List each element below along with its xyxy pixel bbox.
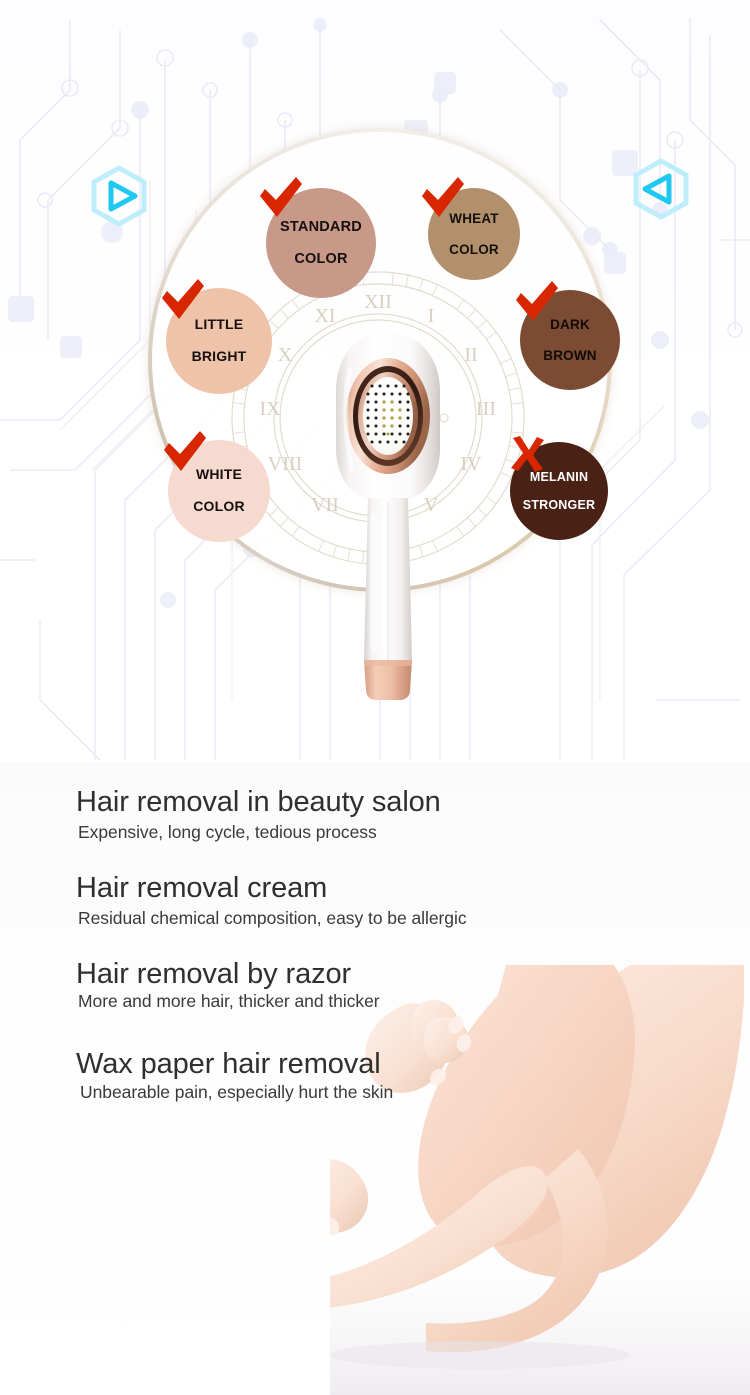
comparison-item-3-subtitle: More and more hair, thicker and thicker xyxy=(78,993,380,1011)
skin-tone-white-line1: WHITE xyxy=(187,467,251,483)
play-triangle-left-icon xyxy=(630,158,692,220)
comparison-item-4-title: Wax paper hair removal xyxy=(76,1050,393,1079)
svg-text:X: X xyxy=(278,344,293,366)
skin-tone-standard[interactable]: STANDARDCOLOR xyxy=(266,188,376,298)
svg-text:II: II xyxy=(464,344,477,366)
svg-text:XII: XII xyxy=(364,291,392,313)
skin-tone-standard-line2: COLOR xyxy=(274,251,368,267)
comparison-item-1: Hair removal in beauty salon Expensive, … xyxy=(76,788,441,842)
skin-tone-dark-brown-line1: DARK xyxy=(537,317,603,332)
comparison-item-2-subtitle: Residual chemical composition, easy to b… xyxy=(78,910,467,928)
comparison-item-3-title: Hair removal by razor xyxy=(76,960,380,989)
svg-text:IX: IX xyxy=(259,398,281,420)
comparison-item-4: Wax paper hair removal Unbearable pain, … xyxy=(76,1050,393,1102)
comparison-item-1-subtitle: Expensive, long cycle, tedious process xyxy=(78,824,441,842)
woman-crossed-legs-photo xyxy=(330,965,750,1395)
skin-tone-melanin-stronger-line1: MELANIN xyxy=(517,470,601,484)
svg-text:I: I xyxy=(428,305,435,327)
skin-tone-dark-brown-line2: BROWN xyxy=(537,348,603,363)
skin-tone-white[interactable]: WHITECOLOR xyxy=(168,440,270,542)
skin-tone-little-bright-line2: BRIGHT xyxy=(186,349,253,365)
skin-tone-wheat-line1: WHEAT xyxy=(443,211,505,226)
skin-tone-wheat-line2: COLOR xyxy=(443,242,505,257)
comparison-item-2-title: Hair removal cream xyxy=(76,874,467,903)
skin-tone-wheat[interactable]: WHEATCOLOR xyxy=(428,188,520,280)
skin-tone-standard-line1: STANDARD xyxy=(274,219,368,235)
skin-tone-melanin-stronger-line2: STRONGER xyxy=(517,498,601,512)
skin-tone-white-line2: COLOR xyxy=(187,499,251,515)
ipl-hair-removal-handset xyxy=(330,330,445,705)
comparison-item-2: Hair removal cream Residual chemical com… xyxy=(76,874,467,928)
svg-text:III: III xyxy=(476,398,496,420)
svg-text:IV: IV xyxy=(460,453,482,475)
comparison-item-1-title: Hair removal in beauty salon xyxy=(76,788,441,817)
skin-tone-dark-brown[interactable]: DARKBROWN xyxy=(520,290,620,390)
skin-tone-little-bright-line1: LITTLE xyxy=(186,317,253,333)
skin-tone-little-bright[interactable]: LITTLEBRIGHT xyxy=(166,288,272,394)
svg-text:VIII: VIII xyxy=(268,453,302,475)
comparison-item-3: Hair removal by razor More and more hair… xyxy=(76,960,380,1011)
svg-text:XI: XI xyxy=(314,305,335,327)
skin-tone-melanin-stronger[interactable]: MELANINSTRONGER xyxy=(510,442,608,540)
comparison-item-4-subtitle: Unbearable pain, especially hurt the ski… xyxy=(80,1084,393,1102)
product-marketing-page: XII I II III IV V VI VII VIII IX X XI xyxy=(0,0,750,1395)
comparison-section: Hair removal in beauty salon Expensive, … xyxy=(0,762,750,1395)
hero-section: XII I II III IV V VI VII VIII IX X XI xyxy=(0,0,750,760)
play-triangle-right-icon xyxy=(88,165,150,227)
